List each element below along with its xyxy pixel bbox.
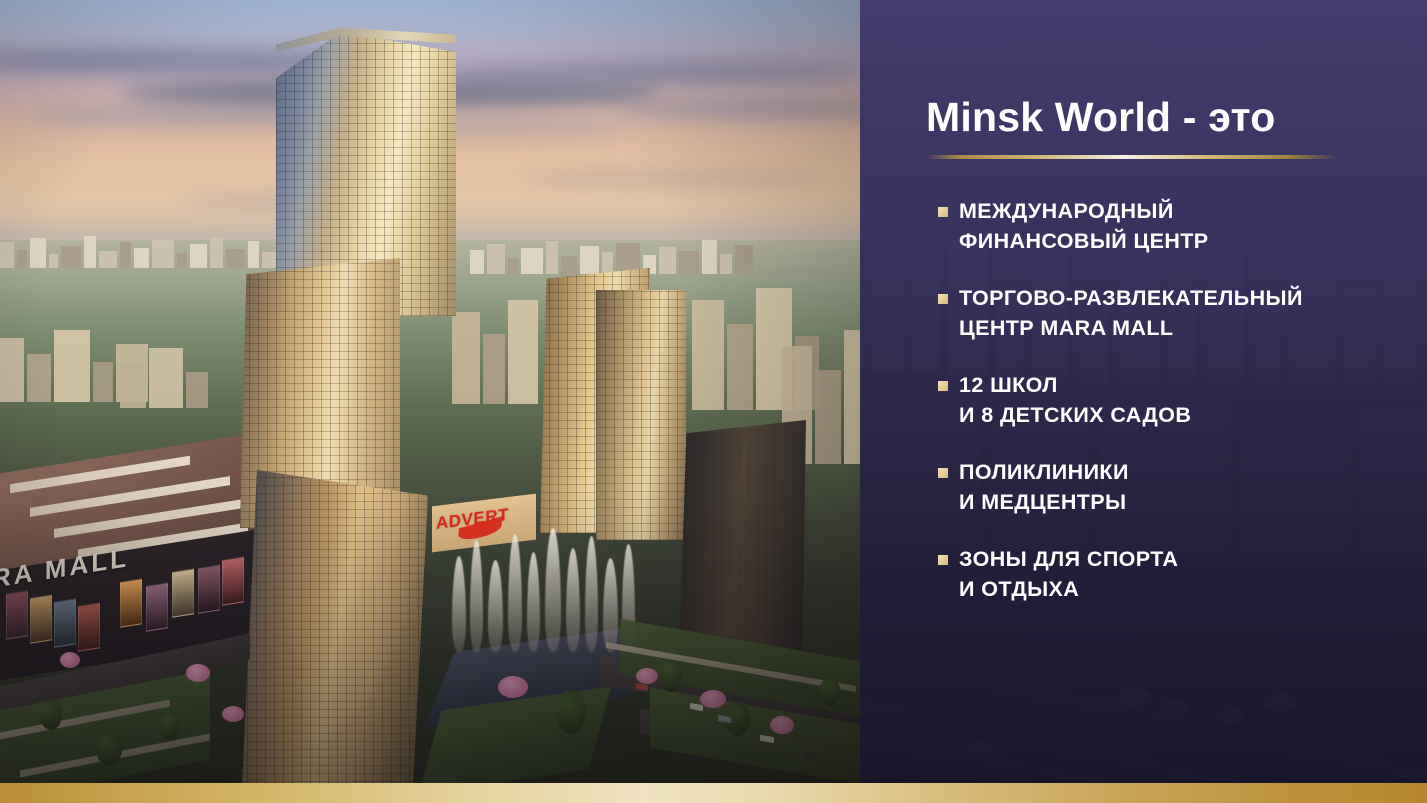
tree <box>820 676 840 706</box>
square-bullet-icon <box>938 555 948 565</box>
list-item: ПОЛИКЛИНИКИ И МЕДЦЕНТРЫ <box>926 457 1416 517</box>
facade-poster <box>172 568 194 617</box>
square-bullet-icon <box>938 294 948 304</box>
list-item-line-2: И ОТДЫХА <box>959 574 1416 604</box>
facade-poster <box>6 590 28 639</box>
list-item-line-1: МЕЖДУНАРОДНЫЙ <box>959 196 1416 226</box>
bottom-gold-bar <box>0 783 1427 803</box>
facade-poster <box>78 602 100 651</box>
gold-divider <box>926 155 1339 159</box>
list-item-line-1: 12 ШКОЛ <box>959 370 1416 400</box>
tree <box>556 690 586 734</box>
square-bullet-icon <box>938 381 948 391</box>
list-item: ТОРГОВО-РАЗВЛЕКАТЕЛЬНЫЙ ЦЕНТР MARA MALL <box>926 283 1416 343</box>
blossom-tree <box>60 652 80 668</box>
cloud <box>440 62 860 84</box>
mid-residential-blocks <box>120 348 208 408</box>
list-item-line-1: ТОРГОВО-РАЗВЛЕКАТЕЛЬНЫЙ <box>959 283 1416 313</box>
tree <box>96 732 122 766</box>
list-item: 12 ШКОЛ И 8 ДЕТСКИХ САДОВ <box>926 370 1416 430</box>
tree <box>160 712 180 740</box>
tree <box>660 660 682 692</box>
facade-poster <box>120 578 142 627</box>
list-item: МЕЖДУНАРОДНЫЙ ФИНАНСОВЫЙ ЦЕНТР <box>926 196 1416 256</box>
blossom-tree <box>636 668 658 684</box>
blossom-tree <box>186 664 210 682</box>
mid-residential-blocks <box>452 300 538 404</box>
facade-poster <box>54 598 76 647</box>
right-tower-two <box>596 290 686 540</box>
blossom-tree <box>770 716 794 734</box>
foreground-tower <box>238 470 428 789</box>
facade-poster <box>198 564 220 613</box>
panel-title: Minsk World - это <box>926 94 1276 141</box>
list-item-line-1: ЗОНЫ ДЛЯ СПОРТА <box>959 544 1416 574</box>
info-panel: Minsk World - это МЕЖДУНАРОДНЫЙ ФИНАНСОВ… <box>860 0 1427 789</box>
tree <box>40 700 62 730</box>
list-item-line-1: ПОЛИКЛИНИКИ <box>959 457 1416 487</box>
facade-poster <box>222 556 244 605</box>
list-item-line-2: ФИНАНСОВЫЙ ЦЕНТР <box>959 226 1416 256</box>
distant-buildings <box>470 240 753 274</box>
presentation-slide: RA MALL ADVERT <box>0 0 1427 803</box>
facade-poster <box>30 594 52 643</box>
list-item-line-2: И 8 ДЕТСКИХ САДОВ <box>959 400 1416 430</box>
square-bullet-icon <box>938 207 948 217</box>
list-item-line-2: ЦЕНТР MARA MALL <box>959 313 1416 343</box>
blossom-tree <box>222 706 244 722</box>
facade-poster <box>146 582 168 631</box>
list-item-line-2: И МЕДЦЕНТРЫ <box>959 487 1416 517</box>
blossom-tree <box>700 690 726 708</box>
cloud <box>520 172 820 184</box>
list-item: ЗОНЫ ДЛЯ СПОРТА И ОТДЫХА <box>926 544 1416 604</box>
feature-list: МЕЖДУНАРОДНЫЙ ФИНАНСОВЫЙ ЦЕНТР ТОРГОВО-Р… <box>926 196 1416 631</box>
blossom-tree <box>498 676 528 698</box>
distant-buildings <box>0 236 319 268</box>
project-render-photo: RA MALL ADVERT <box>0 0 860 789</box>
square-bullet-icon <box>938 468 948 478</box>
